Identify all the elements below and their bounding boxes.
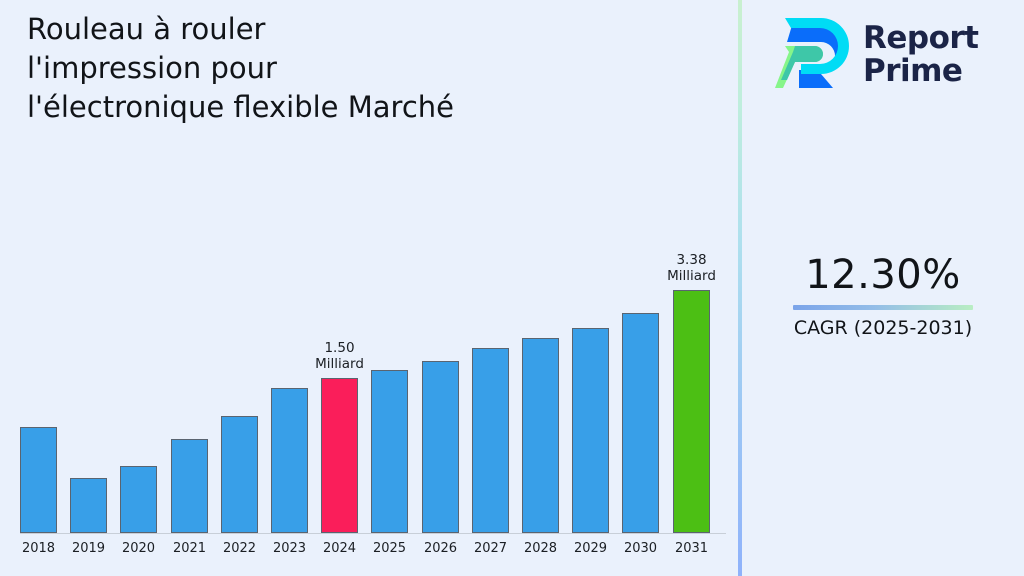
bar-2022[interactable] — [221, 416, 258, 533]
cagr-block: 12.30% CAGR (2025-2031) — [742, 252, 1024, 340]
x-tick-2028: 2028 — [516, 541, 566, 556]
x-tick-2027: 2027 — [466, 541, 516, 556]
chart-panel: Rouleau à rouler l'impression pour l'éle… — [0, 0, 739, 576]
bar-2028[interactable] — [522, 338, 559, 533]
x-tick-2018: 2018 — [14, 541, 64, 556]
bar-chart: 20182019202020212022202320241.50 Milliar… — [0, 0, 739, 576]
x-tick-2026: 2026 — [416, 541, 466, 556]
bar-2018[interactable] — [20, 427, 57, 533]
brand-name: Report Prime — [863, 22, 979, 88]
x-axis-line — [20, 533, 726, 534]
x-tick-2019: 2019 — [64, 541, 114, 556]
bar-value-label-2031: 3.38 Milliard — [647, 252, 737, 284]
bar-2029[interactable] — [572, 328, 609, 533]
bar-2026[interactable] — [422, 361, 459, 533]
bar-2030[interactable] — [622, 313, 659, 533]
x-tick-2022: 2022 — [215, 541, 265, 556]
bar-2019[interactable] — [70, 478, 107, 533]
screenshot-root: Rouleau à rouler l'impression pour l'éle… — [0, 0, 1024, 576]
x-tick-2024: 2024 — [315, 541, 365, 556]
x-tick-2023: 2023 — [265, 541, 315, 556]
brand-name-line1: Report — [863, 22, 979, 55]
x-tick-2021: 2021 — [165, 541, 215, 556]
info-panel: Report Prime 12.30% CAGR (2025-2031) — [742, 0, 1024, 576]
cagr-divider-rule — [793, 305, 973, 310]
bar-2027[interactable] — [472, 348, 509, 533]
brand-name-line2: Prime — [863, 55, 979, 88]
bar-2023[interactable] — [271, 388, 308, 533]
bar-value-label-2024: 1.50 Milliard — [295, 340, 385, 372]
x-tick-2030: 2030 — [616, 541, 666, 556]
cagr-caption: CAGR (2025-2031) — [742, 316, 1024, 340]
x-tick-2025: 2025 — [365, 541, 415, 556]
brand-logo[interactable]: Report Prime — [775, 12, 1015, 98]
bar-2024[interactable] — [321, 378, 358, 533]
bar-2020[interactable] — [120, 466, 157, 533]
report-prime-logo-mark — [775, 18, 853, 92]
x-tick-2020: 2020 — [114, 541, 164, 556]
x-tick-2031: 2031 — [667, 541, 717, 556]
cagr-value: 12.30% — [742, 252, 1024, 298]
bar-2031[interactable] — [673, 290, 710, 533]
x-tick-2029: 2029 — [566, 541, 616, 556]
bar-2025[interactable] — [371, 370, 408, 533]
bar-2021[interactable] — [171, 439, 208, 533]
